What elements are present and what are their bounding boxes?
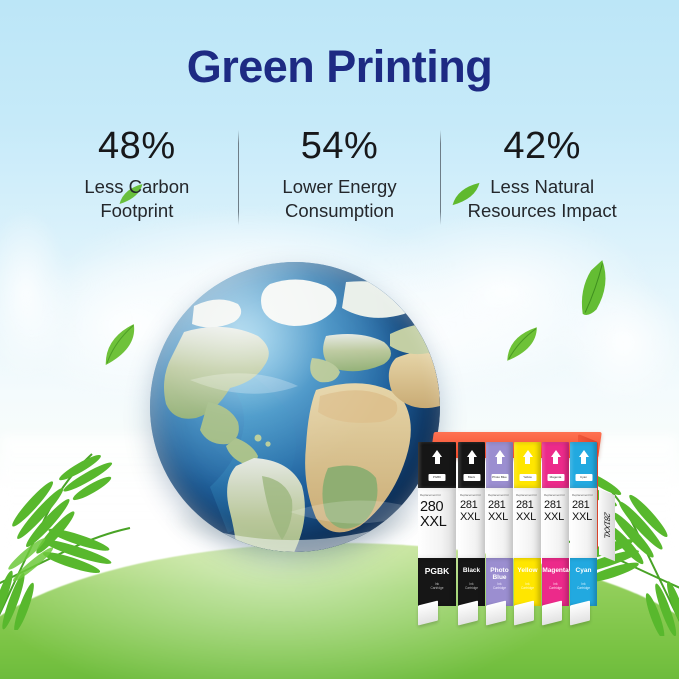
stat-item: 48% Less Carbon Footprint <box>36 126 238 224</box>
replacement-text: Replacement for <box>460 493 481 497</box>
cartridge-label: Replacement for 281 XXL <box>542 488 569 558</box>
stat-value: 42% <box>445 126 639 168</box>
cartridge-size: XXL <box>572 512 595 524</box>
stat-value: 48% <box>40 126 234 168</box>
cartridge-top: Black <box>458 442 485 488</box>
promo-banner: Green Printing 48% Less Carbon Footprint… <box>0 0 679 679</box>
cartridge-foot <box>514 601 534 626</box>
stat-value: 54% <box>243 126 437 168</box>
replacement-text: Replacement for <box>420 493 451 497</box>
globe-rim <box>150 262 440 552</box>
up-arrow-icon <box>579 450 589 457</box>
stat-label: Less Carbon Footprint <box>40 175 234 224</box>
cartridge-model: 281 <box>516 500 539 512</box>
cartridge-model: 281 <box>572 500 595 512</box>
cartridge-color-name: Black <box>458 567 485 574</box>
cartridge-label: Replacement for 281 XXL <box>486 488 513 558</box>
cartridge-side-label: 281XXL <box>599 489 615 561</box>
cartridge-yellow: Yellow Replacement for 281 XXL Yellow In… <box>514 442 541 606</box>
earth-globe <box>150 262 440 552</box>
globe-sphere <box>150 262 440 552</box>
stat-label: Lower Energy Consumption <box>243 175 437 224</box>
up-arrow-icon <box>432 450 442 457</box>
cartridge-foot <box>570 601 590 626</box>
cartridge-color-name: PGBK <box>418 567 456 576</box>
replacement-text: Replacement for <box>572 493 593 497</box>
cartridge-foot <box>418 601 438 626</box>
cartridge-photo-blue: Photo Blue Replacement for 281 XXL Photo… <box>486 442 513 606</box>
side-label-text: 281XXL <box>603 510 612 540</box>
up-arrow-icon <box>551 450 561 457</box>
cartridge-color-name: Yellow <box>514 567 541 574</box>
cartridge-color-block: Photo Blue Ink Cartridge <box>486 558 513 606</box>
cartridge-color-block: Black Ink Cartridge <box>458 558 485 606</box>
cartridge-foot <box>486 601 506 626</box>
stat-label: Less Natural Resources Impact <box>445 175 639 224</box>
cartridge-chip: Magenta <box>547 474 564 481</box>
cartridge-sub-line: Cartridge <box>458 586 485 590</box>
cartridge-size: XXL <box>544 512 567 524</box>
cartridge-top: Magenta <box>542 442 569 488</box>
cartridge-sub-line: Cartridge <box>514 586 541 590</box>
cartridge-foot <box>458 601 478 626</box>
stat-label-line: Footprint <box>40 199 234 223</box>
cartridge-size: XXL <box>460 512 483 524</box>
cartridge-model: 281 <box>460 500 483 512</box>
page-title: Green Printing <box>0 44 679 89</box>
stat-item: 54% Lower Energy Consumption <box>239 126 441 224</box>
cartridge-chip: PGBK <box>429 474 446 481</box>
up-arrow-icon <box>495 450 505 457</box>
cartridge-color-block: PGBK Ink Cartridge <box>418 558 456 606</box>
stat-label-line: Less Natural <box>445 175 639 199</box>
cartridge-chip: Cyan <box>575 474 592 481</box>
cartridge-sub-line: Cartridge <box>486 586 513 590</box>
replacement-text: Replacement for <box>488 493 509 497</box>
cartridge-sub-text: Ink Cartridge <box>418 582 456 590</box>
stats-row: 48% Less Carbon Footprint 54% Lower Ener… <box>36 126 643 225</box>
cartridge-chip: Black <box>463 474 480 481</box>
cartridge-sub-text: Ink Cartridge <box>570 582 597 590</box>
stat-label-line: Less Carbon <box>40 175 234 199</box>
cartridge-black: Black Replacement for 281 XXL Black Ink … <box>458 442 485 606</box>
cartridge-chip: Yellow <box>519 474 536 481</box>
cartridge-magenta: Magenta Replacement for 281 XXL Magenta … <box>542 442 569 606</box>
cartridge-model: 280 <box>420 500 454 515</box>
cartridge-sub-text: Ink Cartridge <box>458 582 485 590</box>
replacement-text: Replacement for <box>544 493 565 497</box>
cartridge-top: Yellow <box>514 442 541 488</box>
up-arrow-icon <box>467 450 477 457</box>
stat-label-line: Consumption <box>243 199 437 223</box>
cartridge-chip: Photo Blue <box>491 474 508 481</box>
cartridge-top: PGBK <box>418 442 456 488</box>
cartridge-sub-text: Ink Cartridge <box>514 582 541 590</box>
fern-frond-left <box>0 420 136 630</box>
cartridge-size: XXL <box>516 512 539 524</box>
cartridge-color-name: Magenta <box>542 567 569 574</box>
cartridge-label: Replacement for 281 XXL <box>570 488 597 558</box>
cartridge-color-block: Yellow Ink Cartridge <box>514 558 541 606</box>
cartridge-sub-line: Cartridge <box>542 586 569 590</box>
cartridge-color-name: Cyan <box>570 567 597 574</box>
stat-item: 42% Less Natural Resources Impact <box>441 126 643 224</box>
cartridge-size: XXL <box>420 515 454 530</box>
cartridge-sub-line: Cartridge <box>570 586 597 590</box>
cartridge-model: 281 <box>544 500 567 512</box>
cartridge-size: XXL <box>488 512 511 524</box>
stat-label-line: Resources Impact <box>445 199 639 223</box>
cartridge-sub-text: Ink Cartridge <box>542 582 569 590</box>
up-arrow-icon <box>523 450 533 457</box>
cartridge-top: Photo Blue <box>486 442 513 488</box>
stat-label-line: Lower Energy <box>243 175 437 199</box>
cartridge-label: Replacement for 281 XXL <box>458 488 485 558</box>
cartridge-cyan: Cyan Replacement for 281 XXL Cyan Ink Ca… <box>570 442 597 606</box>
replacement-text: Replacement for <box>516 493 537 497</box>
cartridge-color-name: Photo Blue <box>486 567 513 581</box>
cartridge-label: Replacement for 280 XXL <box>418 488 456 558</box>
cartridge-color-block: Magenta Ink Cartridge <box>542 558 569 606</box>
ink-cartridge-set: PGBK Replacement for 280 XXL PGBK Ink Ca… <box>418 432 614 624</box>
cartridge-color-block: Cyan Ink Cartridge <box>570 558 597 606</box>
cartridge-sub-line: Cartridge <box>418 586 456 590</box>
cartridge-pgbk: PGBK Replacement for 280 XXL PGBK Ink Ca… <box>418 442 456 606</box>
cartridge-label: Replacement for 281 XXL <box>514 488 541 558</box>
cartridge-model: 281 <box>488 500 511 512</box>
cartridge-top: Cyan <box>570 442 597 488</box>
cartridge-foot <box>542 601 562 626</box>
cartridge-sub-text: Ink Cartridge <box>486 582 513 590</box>
